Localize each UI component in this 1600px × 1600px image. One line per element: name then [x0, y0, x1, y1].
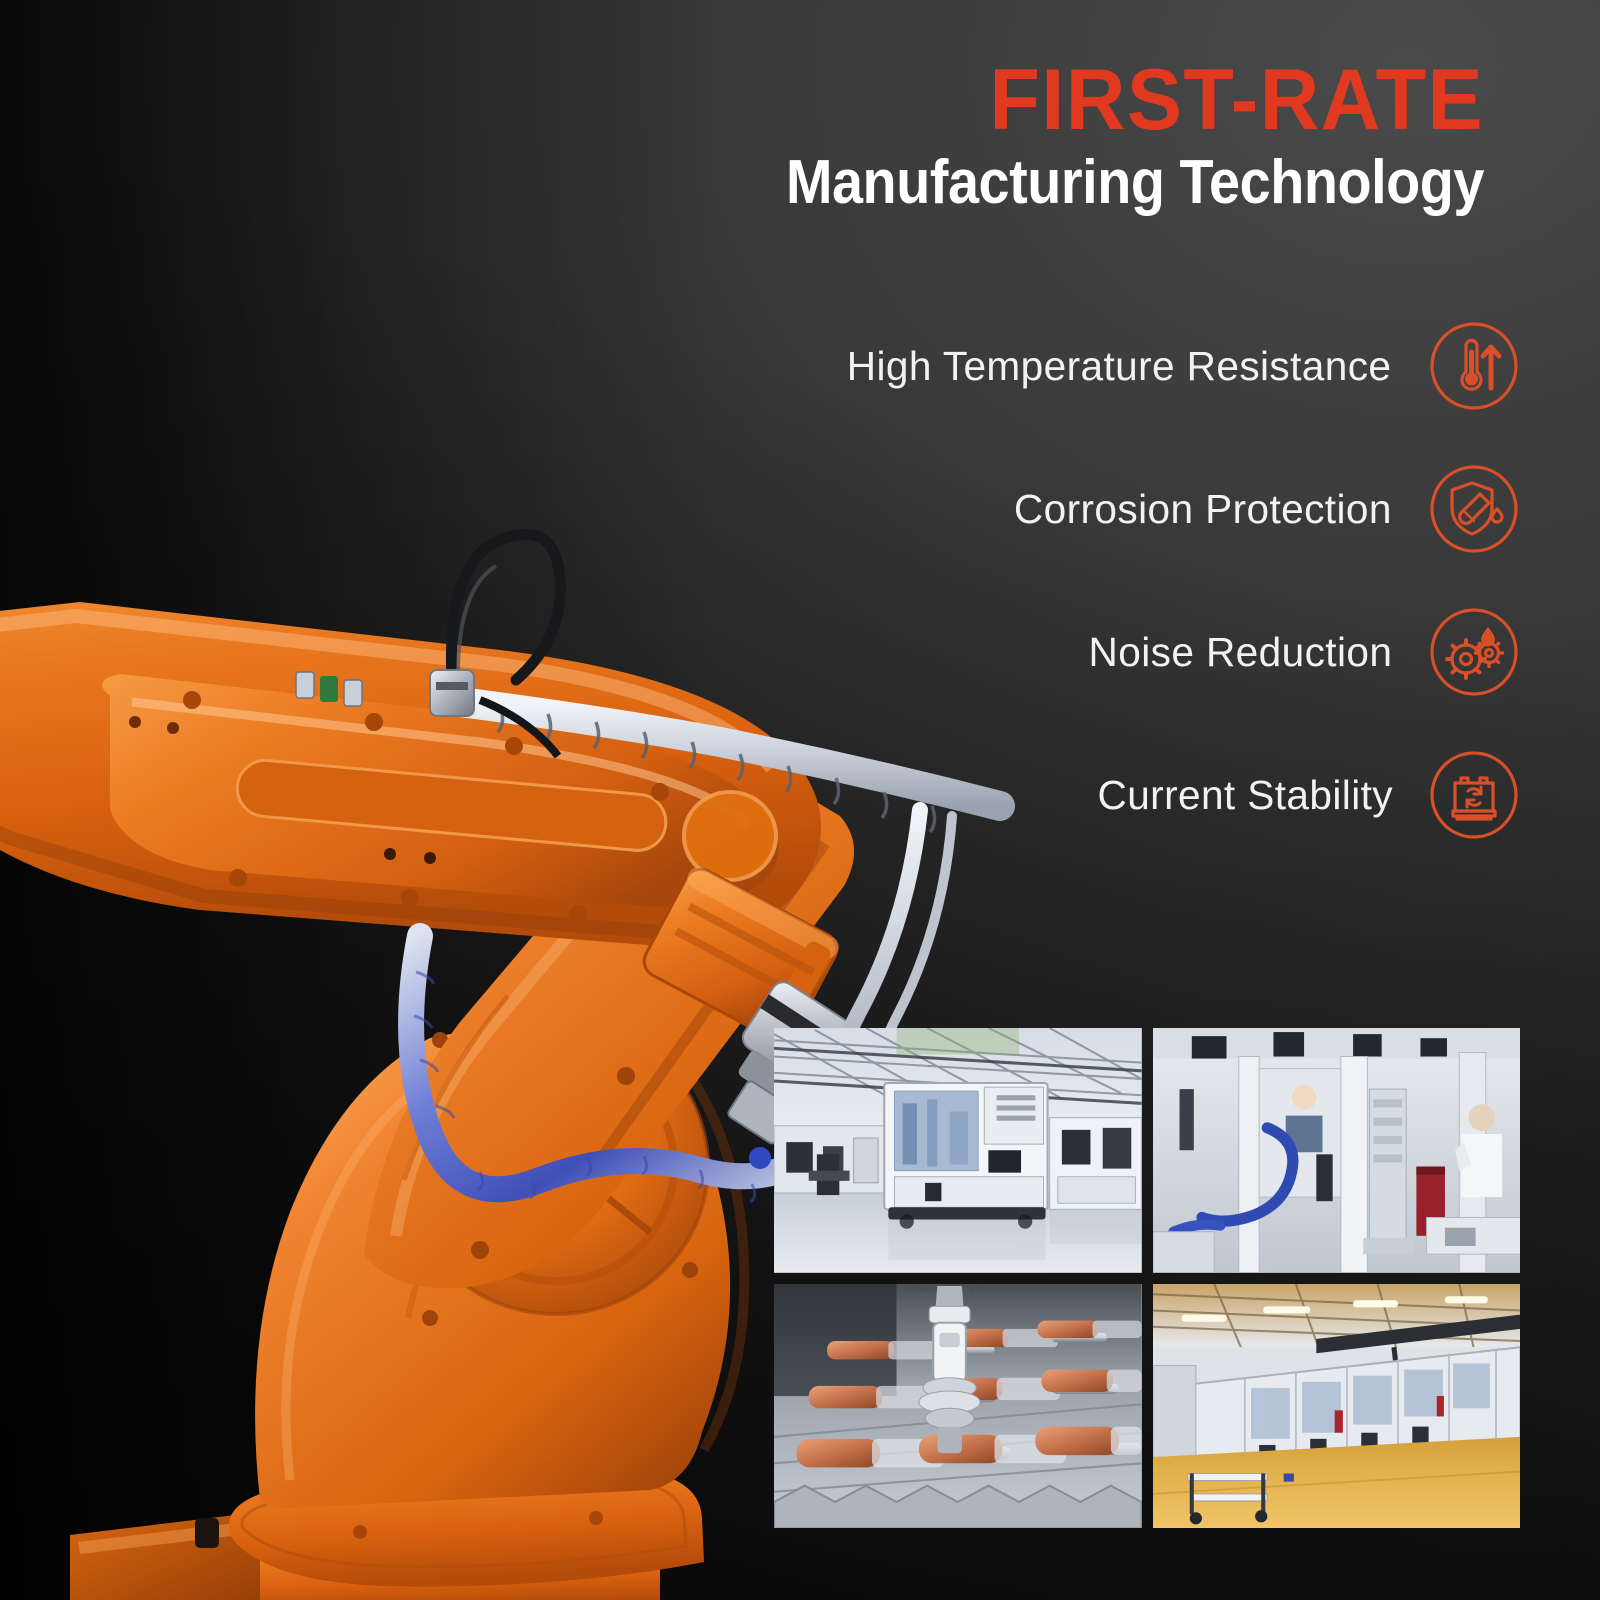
- photo-production-hall-floor: [1153, 1284, 1521, 1529]
- feature-label: Corrosion Protection: [1014, 486, 1392, 533]
- shield-test-tube-icon: [1428, 463, 1520, 555]
- feature-label: Current Stability: [1097, 772, 1392, 819]
- header-block: FIRST-RATE Manufacturing Technology: [584, 58, 1484, 217]
- promo-banner: FIRST-RATE Manufacturing Technology High…: [0, 0, 1600, 1600]
- gears-droplet-icon: [1428, 606, 1520, 698]
- feature-label: Noise Reduction: [1089, 629, 1393, 676]
- feature-item-high-temperature-resistance[interactable]: High Temperature Resistance: [820, 318, 1520, 414]
- thermometer-arrow-up-icon: [1428, 320, 1520, 412]
- feature-item-current-stability[interactable]: Current Stability: [820, 747, 1520, 843]
- feature-item-corrosion-protection[interactable]: Corrosion Protection: [820, 461, 1520, 557]
- photo-semiconductor-fab-line: [774, 1028, 1142, 1273]
- photo-assembly-cell-operator: [1153, 1028, 1521, 1273]
- battery-cycle-icon: [1428, 749, 1520, 841]
- photo-motor-rotor-tray: [774, 1284, 1142, 1529]
- feature-label: High Temperature Resistance: [847, 343, 1392, 390]
- factory-photo-grid: [774, 1028, 1520, 1528]
- page-subtitle: Manufacturing Technology: [674, 150, 1484, 217]
- feature-item-noise-reduction[interactable]: Noise Reduction: [820, 604, 1520, 700]
- page-title: FIRST-RATE: [620, 58, 1484, 142]
- feature-list: High Temperature Resistance Corrosion Pr…: [820, 318, 1520, 890]
